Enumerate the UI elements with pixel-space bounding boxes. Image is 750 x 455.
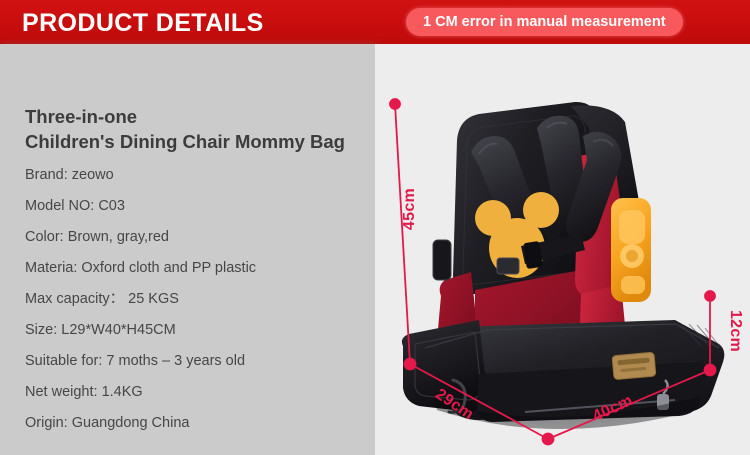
specification-list: Brand: zeowo Model NO: C03 Color: Brown,…	[25, 160, 375, 439]
product-detail-page: PRODUCT DETAILS 1 CM error in manual mea…	[0, 0, 750, 455]
spec-item-model: Model NO: C03	[25, 191, 375, 222]
specification-panel: Three-in-one Children's Dining Chair Mom…	[0, 44, 375, 455]
product-image	[375, 44, 750, 455]
page-title: PRODUCT DETAILS	[22, 9, 264, 38]
measurement-note-text: 1 CM error in manual measurement	[423, 14, 666, 30]
product-title-line-2: Children's Dining Chair Mommy Bag	[25, 129, 370, 154]
spec-item-size: Size: L29*W40*H45CM	[25, 315, 375, 346]
spec-item-max-capacity: Max capacity： 25 KGS	[25, 284, 375, 315]
spec-item-brand: Brand: zeowo	[25, 160, 375, 191]
header-bar: PRODUCT DETAILS 1 CM error in manual mea…	[0, 0, 750, 44]
spec-item-net-weight: Net weight: 1.4KG	[25, 377, 375, 408]
spec-item-color: Color: Brown, gray,red	[25, 222, 375, 253]
spec-item-origin: Origin: Guangdong China	[25, 408, 375, 439]
product-title: Three-in-one Children's Dining Chair Mom…	[25, 104, 370, 154]
product-photo-stage	[375, 44, 750, 455]
product-title-line-1: Three-in-one	[25, 104, 370, 129]
orange-buckle-shape	[611, 198, 651, 302]
brand-label-patch	[612, 352, 656, 380]
spec-item-suitable-for: Suitable for: 7 moths – 3 years old	[25, 346, 375, 377]
spec-item-material: Materia: Oxford cloth and PP plastic	[25, 253, 375, 284]
measurement-note-badge: 1 CM error in manual measurement	[406, 8, 683, 36]
